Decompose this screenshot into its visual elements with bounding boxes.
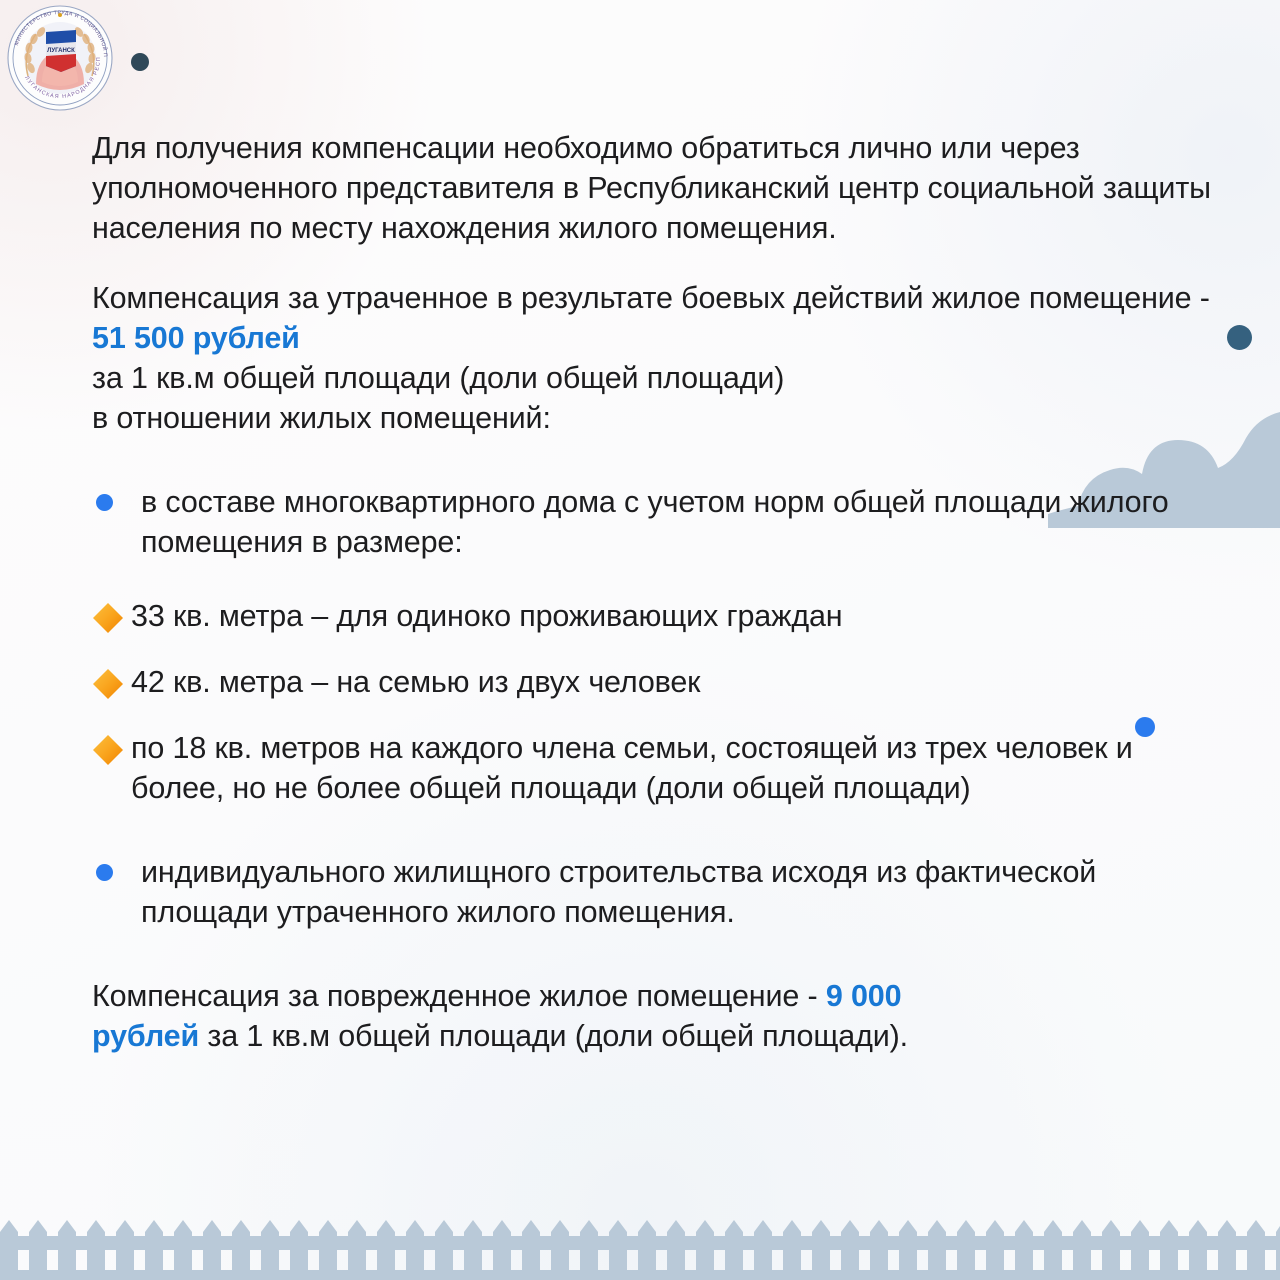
svg-text:ЛУГАНСК: ЛУГАНСК <box>47 48 75 54</box>
picket-fence-decoration <box>0 1218 1280 1280</box>
infographic-poster: ЛУГАНСК МИНИСТЕРСТВО ТРУДА И СОЦИАЛЬНОЙ … <box>0 0 1280 1280</box>
ministry-emblem-logo: ЛУГАНСК МИНИСТЕРСТВО ТРУДА И СОЦИАЛЬНОЙ … <box>6 4 114 112</box>
bullet-apartment-block: в составе многоквартирного дома с учетом… <box>92 482 1227 562</box>
blue-bullet-icon <box>96 494 113 511</box>
intro-paragraph: Для получения компенсации необходимо обр… <box>92 128 1227 248</box>
orange-diamond-icon <box>91 733 125 767</box>
bullet-individual-housing-label: индивидуального жилищного строительства … <box>141 852 1227 932</box>
norm-item-18-label: по 18 кв. метров на каждого члена семьи,… <box>131 728 1227 808</box>
navy-dot-icon <box>1227 325 1252 350</box>
lost-compensation-tail-line1: за 1 кв.м общей площади (доли общей площ… <box>92 361 784 395</box>
damaged-compensation-amount-part1: 9 000 <box>826 979 902 1013</box>
norm-item-33-label: 33 кв. метра – для одиноко проживающих г… <box>131 596 843 636</box>
norm-item-42-label: 42 кв. метра – на семью из двух человек <box>131 662 700 702</box>
bullet-individual-housing: индивидуального жилищного строительства … <box>92 852 1227 932</box>
orange-diamond-icon <box>91 667 125 701</box>
navy-dot-icon <box>131 53 149 71</box>
damaged-compensation-paragraph: Компенсация за поврежденное жилое помеще… <box>92 976 1227 1056</box>
poster-content: Для получения компенсации необходимо обр… <box>92 128 1227 1056</box>
lost-compensation-paragraph: Компенсация за утраченное в результате б… <box>92 278 1227 438</box>
lost-compensation-tail-line2: в отношении жилых помещений: <box>92 401 551 435</box>
blue-bullet-icon <box>96 864 113 881</box>
damaged-compensation-amount-part2: рублей <box>92 1019 199 1053</box>
norm-item-42: 42 кв. метра – на семью из двух человек <box>92 662 1227 702</box>
bullet-apartment-block-label: в составе многоквартирного дома с учетом… <box>141 482 1227 562</box>
damaged-compensation-tail: за 1 кв.м общей площади (доли общей площ… <box>199 1019 908 1053</box>
damaged-compensation-lead: Компенсация за поврежденное жилое помеще… <box>92 979 826 1013</box>
orange-diamond-icon <box>91 601 125 635</box>
norm-item-33: 33 кв. метра – для одиноко проживающих г… <box>92 596 1227 636</box>
norm-item-18: по 18 кв. метров на каждого члена семьи,… <box>92 728 1227 808</box>
lost-compensation-amount: 51 500 рублей <box>92 321 300 355</box>
lost-compensation-lead: Компенсация за утраченное в результате б… <box>92 281 1210 315</box>
